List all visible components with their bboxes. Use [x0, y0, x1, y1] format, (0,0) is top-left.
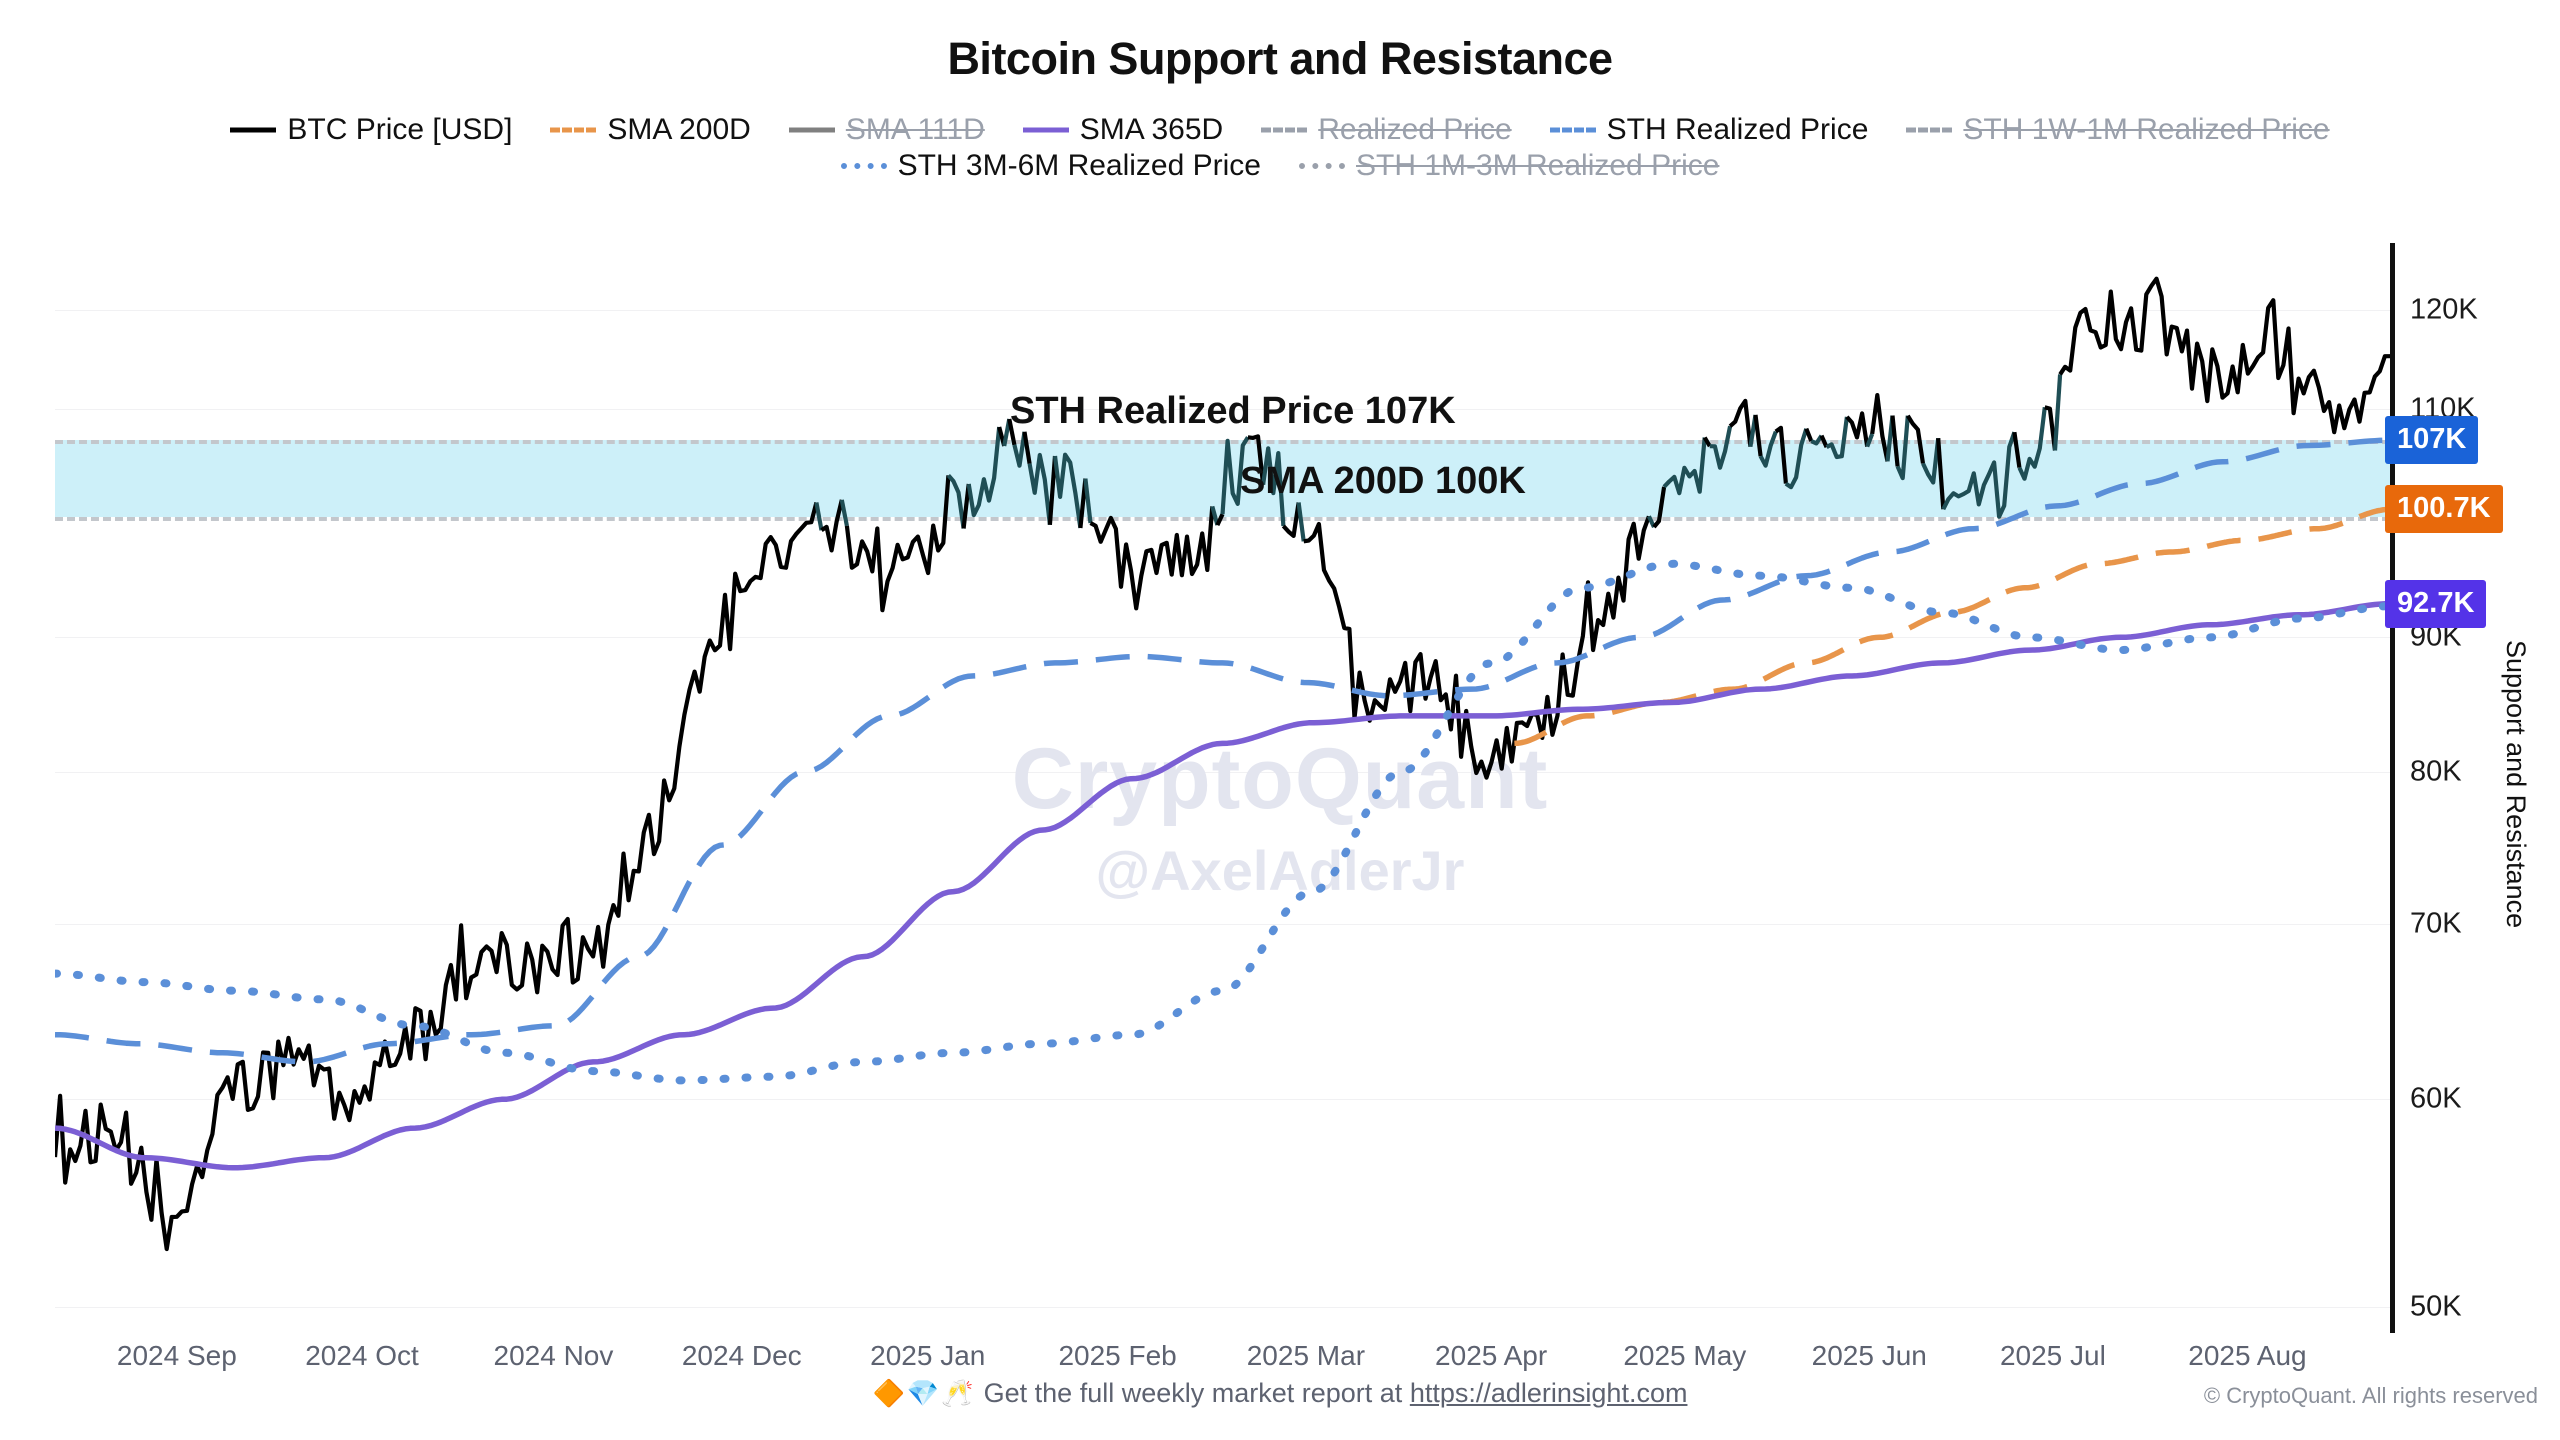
btc-price-line-in-band — [1055, 455, 1080, 528]
sth-realized-price-line-icon — [1550, 119, 1596, 141]
y-tick-label: 60K — [2410, 1083, 2462, 1116]
btc-price-line-in-band — [1923, 438, 1938, 482]
legend-label: SMA 365D — [1080, 115, 1223, 145]
btc-price-line-in-band — [842, 500, 847, 526]
btc-price-line — [1908, 416, 1923, 464]
legend-item-sth-1m-3m-realized-price[interactable]: STH 1M-3M Realized Price — [1299, 151, 1719, 181]
legend-label: STH Realized Price — [1607, 115, 1869, 145]
x-tick-label: 2024 Oct — [305, 1340, 419, 1372]
btc-price-line — [1730, 401, 1750, 447]
page-title: Bitcoin Support and Resistance — [0, 33, 2560, 85]
btc-price-line — [1893, 416, 1898, 467]
btc-price-line-in-band — [1943, 432, 2014, 517]
legend-label: BTC Price [USD] — [287, 115, 512, 145]
chart-legend: BTC Price [USD] SMA 200D SMA 111D SMA 36… — [0, 115, 2560, 181]
btc-price-line-in-band — [2019, 407, 2044, 478]
sth-3m-6m-realized-price-line — [55, 564, 2390, 1081]
sma-365d-line-icon — [1023, 119, 1069, 141]
chart-page: Bitcoin Support and Resistance BTC Price… — [0, 0, 2560, 1440]
annotation-sma-200d: SMA 200D 100K — [1240, 460, 1526, 503]
btc-price-line — [1847, 413, 1867, 446]
btc-price-line — [1025, 432, 1030, 464]
x-tick-label: 2025 Jul — [2000, 1340, 2106, 1372]
y-tick-label: 80K — [2410, 755, 2462, 788]
y-tick-label: 70K — [2410, 907, 2462, 940]
legend-label: SMA 200D — [607, 115, 750, 145]
x-tick-label: 2025 Jan — [870, 1340, 985, 1372]
sma-200d-line-icon — [550, 119, 596, 141]
btc-price-line — [2014, 432, 2019, 467]
btc-price-line — [1217, 514, 1222, 525]
annotation-sth-realized-price: STH Realized Price 107K — [1010, 390, 1456, 433]
btc-price-line — [1304, 516, 1649, 777]
legend-item-btc-price[interactable]: BTC Price [USD] — [230, 115, 512, 145]
legend-item-sth-1w-1m-realized-price[interactable]: STH 1W-1M Realized Price — [1906, 115, 2329, 145]
sth-1m-3m-realized-price-line-icon — [1299, 155, 1345, 177]
legend-item-sth-3m-6m-realized-price[interactable]: STH 3M-6M Realized Price — [841, 151, 1261, 181]
x-tick-label: 2024 Dec — [682, 1340, 802, 1372]
legend-label: STH 3M-6M Realized Price — [898, 151, 1261, 181]
btc-price-line — [1756, 415, 1761, 456]
copyright-notice: © CryptoQuant. All rights reserved — [2204, 1383, 2538, 1409]
btc-price-line — [1091, 506, 1213, 608]
x-tick-label: 2025 May — [1623, 1340, 1746, 1372]
x-tick-label: 2025 Aug — [2188, 1340, 2306, 1372]
legend-label: SMA 111D — [846, 115, 985, 145]
sth-realized-price-badge: 107K — [2385, 416, 2478, 464]
btc-price-line — [1938, 438, 1943, 509]
btc-price-line-in-band — [969, 427, 1000, 515]
sth-realized-price-line — [55, 440, 2390, 1062]
btc-price-line-in-band — [1299, 503, 1304, 542]
legend-row-2: STH 3M-6M Realized Price STH 1M-3M Reali… — [170, 151, 2390, 181]
x-tick-label: 2024 Sep — [117, 1340, 237, 1372]
realized-price-line-icon — [1261, 119, 1307, 141]
btc-price-line-in-band — [1030, 455, 1050, 525]
legend-row-1: BTC Price [USD] SMA 200D SMA 111D SMA 36… — [170, 115, 2390, 145]
y-axis-spine — [2390, 243, 2395, 1333]
btc-price-line — [1776, 428, 1786, 484]
btc-price-line-in-band — [2055, 374, 2060, 450]
btc-price-line — [847, 475, 949, 610]
x-tick-label: 2025 Feb — [1058, 1340, 1176, 1372]
btc-price-line — [1283, 503, 1298, 536]
btc-price-line-in-band — [1867, 434, 1872, 447]
sth-1w-1m-realized-price-line-icon — [1906, 119, 1952, 141]
legend-item-sma-200d[interactable]: SMA 200D — [550, 115, 750, 145]
btc-price-line — [1806, 429, 1811, 441]
btc-price-line-icon — [230, 119, 276, 141]
sma-111d-line-icon — [789, 119, 835, 141]
btc-price-line — [2060, 279, 2390, 433]
btc-price-line-in-band — [1827, 417, 1847, 457]
x-tick-label: 2025 Apr — [1435, 1340, 1547, 1372]
adlerinsight-link[interactable]: https://adlerinsight.com — [1410, 1378, 1688, 1408]
btc-price-line — [1654, 487, 1664, 527]
btc-price-line-in-band — [1898, 416, 1908, 478]
sma-200d-badge: 100.7K — [2385, 485, 2503, 533]
sma-365d-badge: 92.7K — [2385, 580, 2486, 628]
legend-item-sth-realized-price[interactable]: STH Realized Price — [1550, 115, 1869, 145]
y-tick-label: 50K — [2410, 1290, 2462, 1323]
btc-price-line-in-band — [1014, 432, 1024, 466]
legend-item-realized-price[interactable]: Realized Price — [1261, 115, 1511, 145]
legend-label: Realized Price — [1318, 115, 1511, 145]
btc-price-line-in-band — [1786, 429, 1806, 488]
btc-price-line-in-band — [1710, 426, 1730, 468]
footer-promo-text: Get the full weekly market report at — [984, 1378, 1410, 1408]
legend-label: STH 1M-3M Realized Price — [1356, 151, 1719, 181]
legend-label: STH 1W-1M Realized Price — [1963, 115, 2329, 145]
btc-price-line-in-band — [1664, 438, 1705, 494]
btc-price-line — [822, 500, 842, 551]
y-tick-label: 120K — [2410, 293, 2478, 326]
legend-item-sma-111d[interactable]: SMA 111D — [789, 115, 985, 145]
footer-promo: 🔶💎🥂Get the full weekly market report at … — [0, 1378, 2560, 1409]
x-tick-label: 2025 Mar — [1247, 1340, 1365, 1372]
x-tick-label: 2025 Jun — [1812, 1340, 1927, 1372]
btc-price-line — [1872, 395, 1887, 461]
btc-price-line — [55, 503, 816, 1250]
legend-item-sma-365d[interactable]: SMA 365D — [1023, 115, 1223, 145]
promo-emoji-icons: 🔶💎🥂 — [873, 1378, 976, 1408]
sma-365d-line — [55, 604, 2390, 1168]
x-tick-label: 2024 Nov — [494, 1340, 614, 1372]
y-axis-label: Support and Resistance — [2500, 640, 2531, 928]
btc-price-line-in-band — [1761, 432, 1776, 466]
sth-3m-6m-realized-price-line-icon — [841, 155, 887, 177]
btc-price-line-in-band — [816, 503, 821, 531]
btc-price-line-in-band — [948, 475, 963, 528]
btc-price-line-in-band — [1085, 479, 1090, 523]
